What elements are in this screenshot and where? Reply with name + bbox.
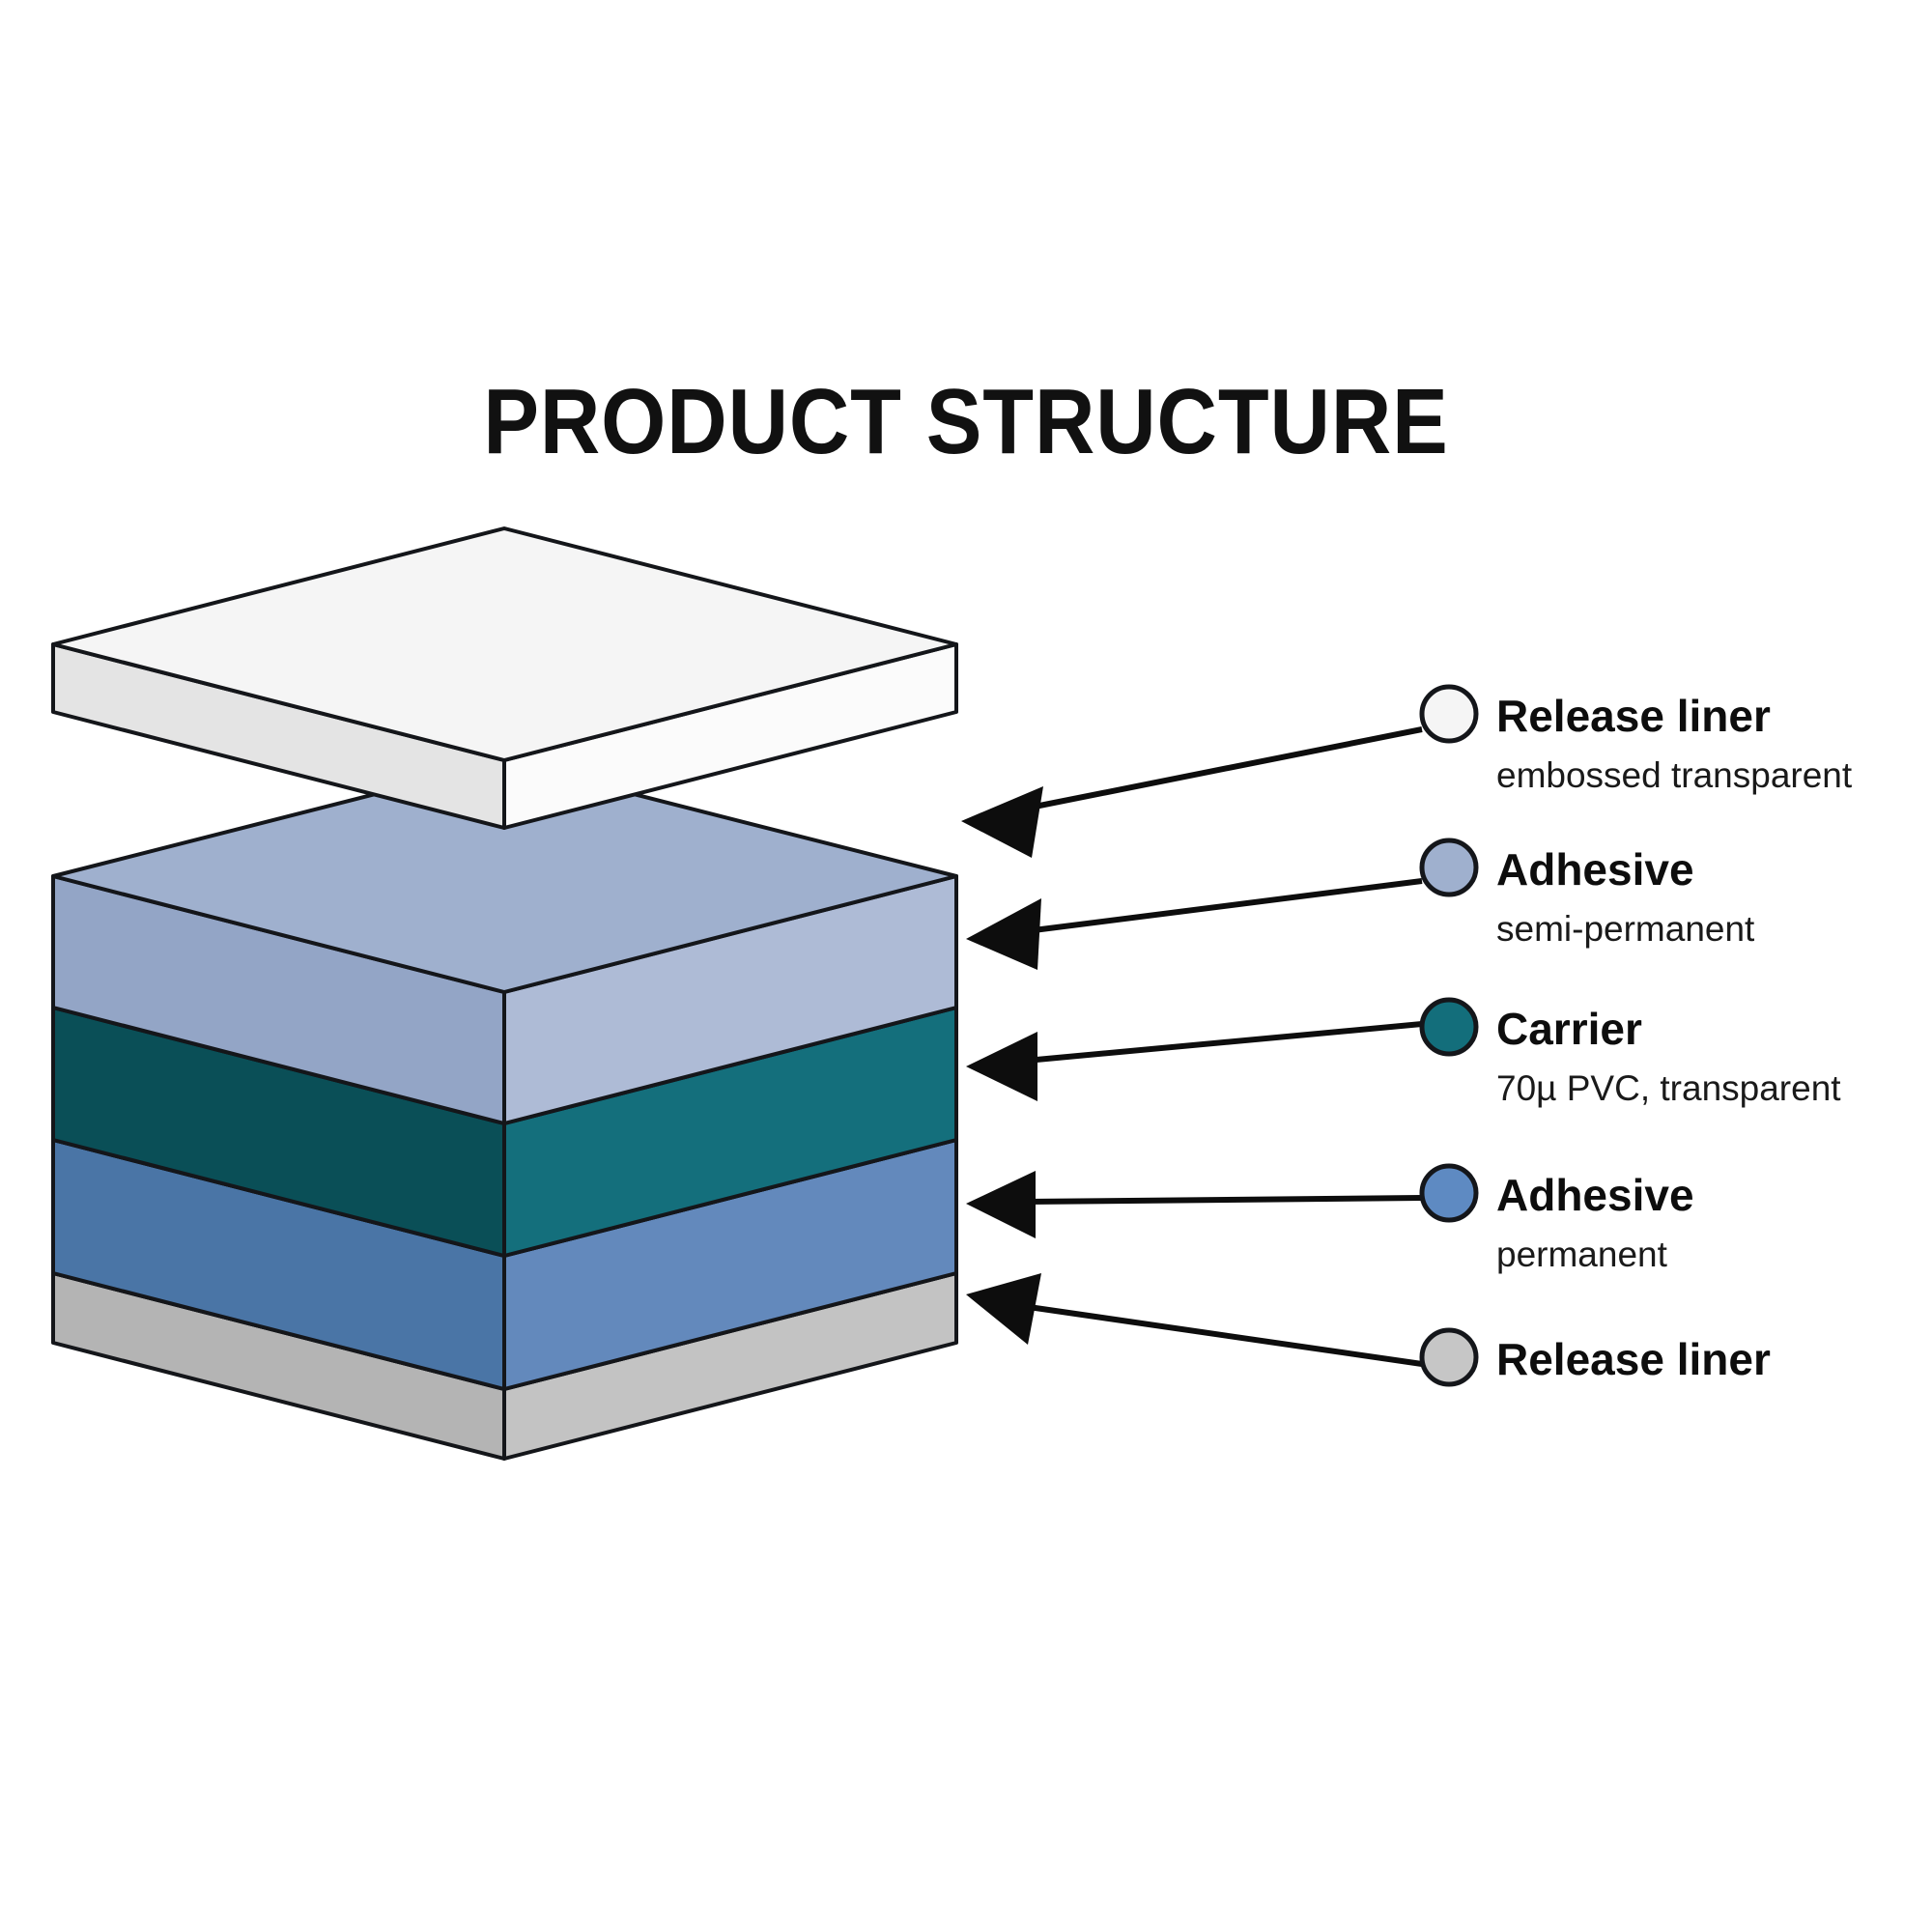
legend-swatch-icon xyxy=(1422,1166,1476,1220)
leader-line-release-liner-top xyxy=(1020,729,1422,810)
arrowhead-release-liner-bottom xyxy=(966,1273,1041,1345)
legend-sublabel: 70µ PVC, transparent xyxy=(1496,1068,1841,1108)
legend: Release liner embossed transparent Adhes… xyxy=(1422,687,1853,1384)
legend-label: Adhesive xyxy=(1496,1170,1694,1220)
arrowhead-carrier xyxy=(966,1032,1037,1101)
legend-item-adhesive-semi-permanent[interactable]: Adhesive semi-permanent xyxy=(1422,840,1755,949)
arrowhead-adhesive-semi xyxy=(966,898,1041,970)
legend-sublabel: embossed transparent xyxy=(1496,755,1853,795)
leader-line-adhesive-semi xyxy=(1026,881,1422,931)
leader-line-carrier xyxy=(1026,1024,1422,1061)
legend-item-release-liner-bottom[interactable]: Release liner xyxy=(1422,1330,1771,1384)
layer-release-liner-top xyxy=(53,528,956,828)
legend-swatch-icon xyxy=(1422,840,1476,895)
legend-label: Release liner xyxy=(1496,1334,1771,1384)
arrowhead-release-liner-top xyxy=(961,786,1043,858)
legend-item-adhesive-permanent[interactable]: Adhesive permanent xyxy=(1422,1166,1694,1274)
legend-sublabel: permanent xyxy=(1496,1235,1668,1274)
legend-label: Carrier xyxy=(1496,1004,1642,1054)
legend-label: Adhesive xyxy=(1496,844,1694,895)
leader-line-adhesive-permanent xyxy=(1026,1198,1422,1202)
legend-swatch-icon xyxy=(1422,687,1476,741)
product-structure-diagram: Release liner embossed transparent Adhes… xyxy=(0,0,1932,1932)
diagram-page: PRODUCT STRUCTURE xyxy=(0,0,1932,1932)
arrowhead-adhesive-permanent xyxy=(966,1171,1036,1238)
legend-label: Release liner xyxy=(1496,691,1771,741)
leader-line-release-liner-bottom xyxy=(1022,1306,1422,1364)
legend-swatch-icon xyxy=(1422,1330,1476,1384)
leader-lines xyxy=(961,729,1422,1364)
legend-item-carrier[interactable]: Carrier 70µ PVC, transparent xyxy=(1422,1000,1841,1108)
legend-item-release-liner-top[interactable]: Release liner embossed transparent xyxy=(1422,687,1853,795)
legend-sublabel: semi-permanent xyxy=(1496,909,1755,949)
legend-swatch-icon xyxy=(1422,1000,1476,1054)
